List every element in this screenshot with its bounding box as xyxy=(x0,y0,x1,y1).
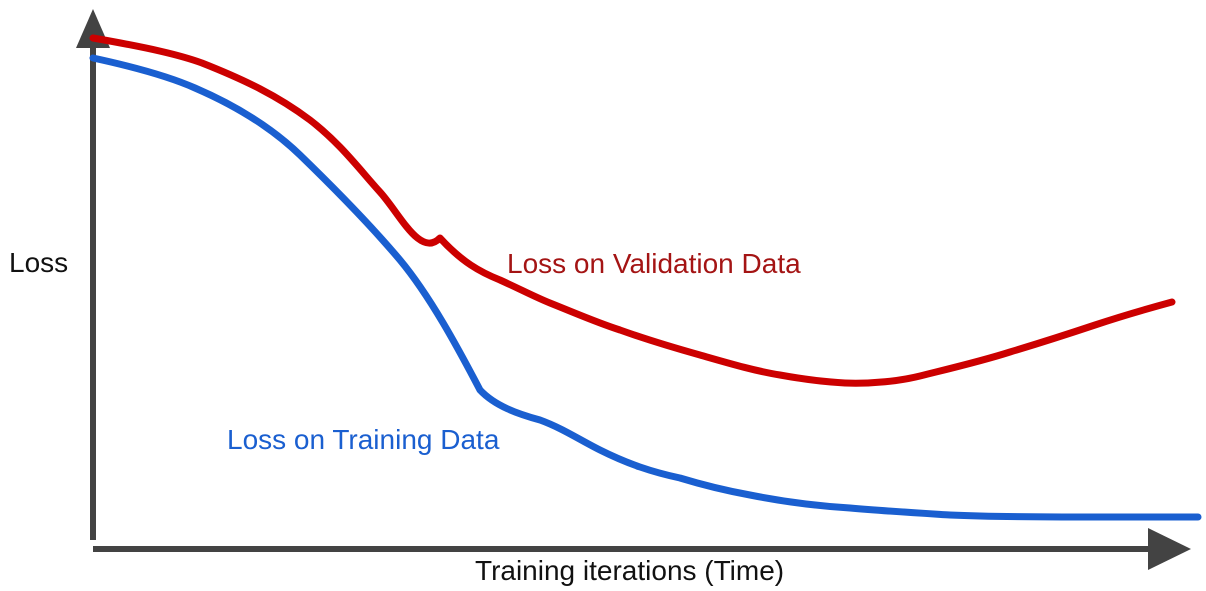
x-axis-arrow-icon xyxy=(1148,528,1191,570)
validation-series-label: Loss on Validation Data xyxy=(507,250,801,278)
x-axis-label: Training iterations (Time) xyxy=(475,557,784,585)
y-axis-label: Loss xyxy=(9,249,68,277)
validation-loss-curve xyxy=(93,38,1172,383)
training-series-label: Loss on Training Data xyxy=(227,426,499,454)
loss-curve-plot xyxy=(0,0,1206,591)
chart-canvas: Loss Training iterations (Time) Loss on … xyxy=(0,0,1206,591)
